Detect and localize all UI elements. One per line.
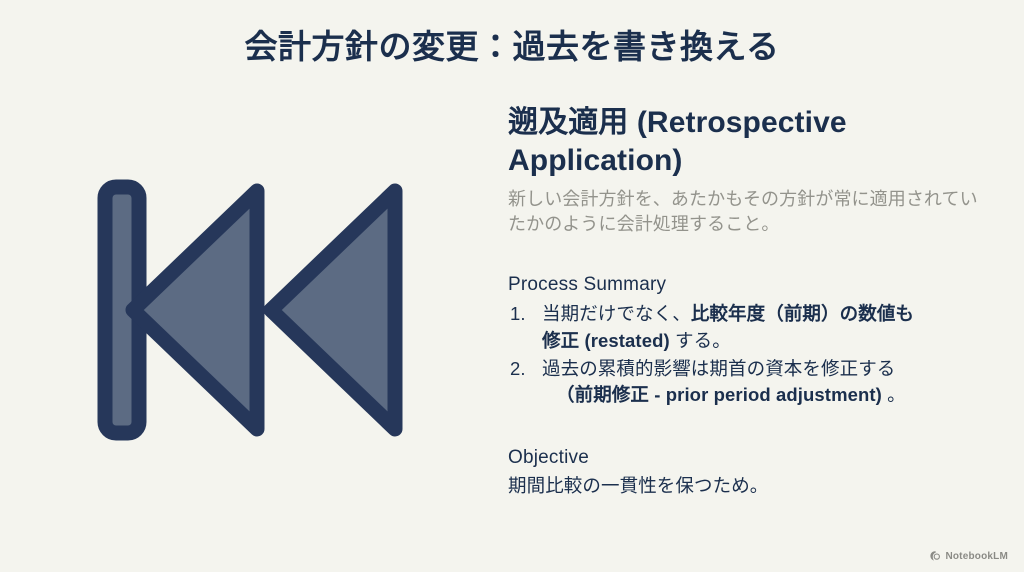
skip-to-start-rewind-icon — [95, 175, 425, 445]
objective-text: 期間比較の一貫性を保つため。 — [508, 473, 978, 499]
list-item-text-plain-2: 。 — [882, 384, 906, 405]
list-item: 2. 過去の累積的影響は期首の資本を修正する （前期修正 - prior per… — [508, 356, 978, 409]
definition-text: 新しい会計方針を、あたかもその方針が常に適用されていたかのように会計処理すること… — [508, 187, 978, 238]
objective-block: Objective 期間比較の一貫性を保つため。 — [508, 445, 978, 500]
notebooklm-logo-icon — [929, 550, 941, 562]
process-summary-list: 1. 当期だけでなく、比較年度（前期）の数値も 修正 (restated) する… — [508, 301, 978, 408]
process-summary-label: Process Summary — [508, 272, 978, 299]
list-item: 1. 当期だけでなく、比較年度（前期）の数値も 修正 (restated) する… — [508, 301, 978, 354]
figure-illustration — [60, 160, 460, 460]
notebooklm-watermark: NotebookLM — [929, 550, 1008, 562]
section-heading: 遡及適用 (Retrospective Application) — [508, 104, 978, 181]
list-item-continuation: 修正 (restated) する。 — [542, 328, 978, 354]
list-marker: 1. — [510, 301, 526, 327]
list-item-text-plain: 当期だけでなく、 — [542, 303, 691, 324]
notebooklm-logo-ring — [935, 554, 940, 559]
page-title: 会計方針の変更：過去を書き換える — [0, 26, 1024, 67]
list-item-text-plain: 過去の累積的影響は期首の資本を修正する — [542, 358, 895, 379]
list-item-continuation: （前期修正 - prior period adjustment) 。 — [542, 382, 978, 408]
slide-canvas: 会計方針の変更：過去を書き換える 遡及適用 (Retrospective App… — [0, 0, 1024, 572]
watermark-label: NotebookLM — [945, 551, 1008, 562]
list-item-text-bold-2: 修正 (restated) — [542, 330, 670, 351]
list-marker: 2. — [510, 356, 526, 382]
rewind-triangle-one-shape — [133, 191, 257, 429]
rewind-triangle-two-shape — [271, 191, 395, 429]
content-column: 遡及適用 (Retrospective Application) 新しい会計方針… — [508, 104, 978, 499]
list-item-text-bold-2: （前期修正 - prior period adjustment) — [556, 384, 882, 405]
list-item-text-plain-2: する。 — [670, 330, 731, 351]
list-item-text-bold: 比較年度（前期）の数値も — [691, 303, 914, 324]
process-summary-block: Process Summary 1. 当期だけでなく、比較年度（前期）の数値も … — [508, 272, 978, 409]
objective-label: Objective — [508, 445, 978, 472]
